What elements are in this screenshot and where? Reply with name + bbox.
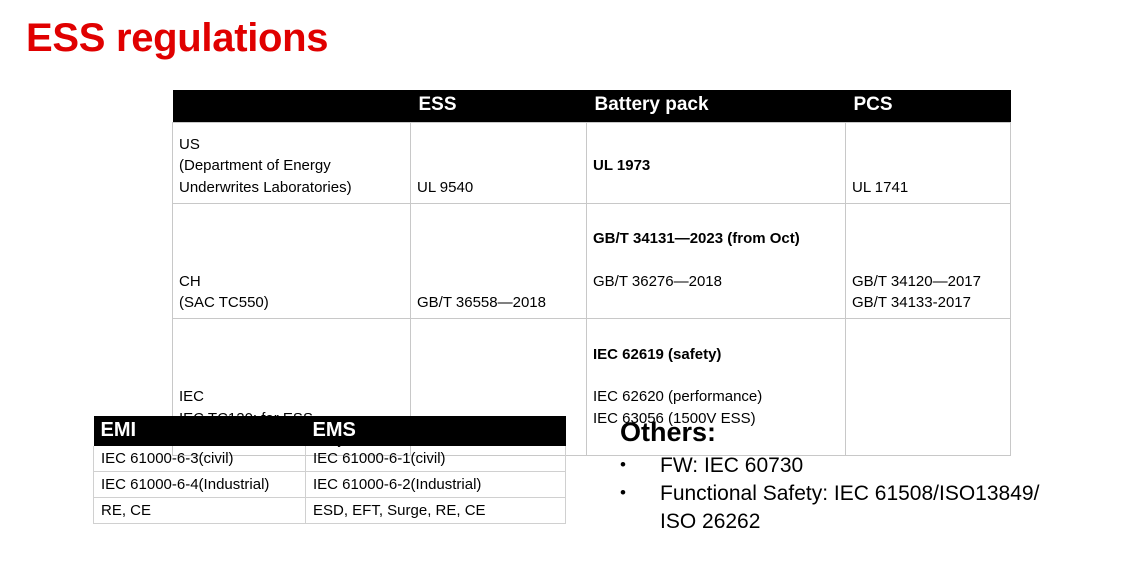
cell-battery-pack-iec-highlight: IEC 62619 (safety) — [593, 344, 841, 365]
cell-battery-pack-us: UL 1973 — [587, 123, 846, 204]
column-header-battery-pack: Battery pack — [587, 90, 846, 123]
others-section: Others: • FW: IEC 60730 • Functional Saf… — [620, 418, 1120, 536]
cell-emi-2: IEC 61000-6-4(Industrial) — [94, 472, 306, 498]
cell-emi-1: IEC 61000-6-3(civil) — [94, 446, 306, 472]
cell-battery-pack-ch-value: GB/T 36276—2018 — [593, 271, 841, 292]
cell-battery-pack-ch: GB/T 34131—2023 (from Oct) GB/T 36276—20… — [587, 204, 846, 319]
cell-ems-1: IEC 61000-6-1(civil) — [306, 446, 566, 472]
emi-header-row: EMI EMS — [94, 416, 566, 446]
column-header-pcs: PCS — [846, 90, 1011, 123]
emi-ems-table: EMI EMS IEC 61000-6-3(civil) IEC 61000-6… — [93, 416, 566, 524]
table-row: CH (SAC TC550) GB/T 36558—2018 GB/T 3413… — [173, 204, 1011, 319]
cell-region-ch: CH (SAC TC550) — [173, 204, 411, 319]
bullet-icon: • — [620, 452, 660, 478]
table-row: RE, CE ESD, EFT, Surge, RE, CE — [94, 498, 566, 524]
table-row: IEC 61000-6-3(civil) IEC 61000-6-1(civil… — [94, 446, 566, 472]
table-header-row: ESS Battery pack PCS — [173, 90, 1011, 123]
cell-battery-pack-ch-highlight: GB/T 34131—2023 (from Oct) — [593, 228, 841, 249]
others-item-text-2: Functional Safety: IEC 61508/ISO13849/ I… — [660, 480, 1120, 535]
cell-battery-pack-us-value: UL 1973 — [593, 155, 841, 176]
cell-region-us: US (Department of Energy Underwrites Lab… — [173, 123, 411, 204]
column-header-emi: EMI — [94, 416, 306, 446]
page-title: ESS regulations — [26, 16, 328, 61]
cell-ess-us: UL 9540 — [411, 123, 587, 204]
others-heading: Others: — [620, 418, 1120, 448]
cell-ems-2: IEC 61000-6-2(Industrial) — [306, 472, 566, 498]
cell-ess-ch: GB/T 36558—2018 — [411, 204, 587, 319]
column-header-ess: ESS — [411, 90, 587, 123]
cell-ems-3: ESD, EFT, Surge, RE, CE — [306, 498, 566, 524]
column-header-region — [173, 90, 411, 123]
list-item: • Functional Safety: IEC 61508/ISO13849/… — [620, 480, 1120, 535]
bullet-icon: • — [620, 480, 660, 506]
list-item: • FW: IEC 60730 — [620, 452, 1120, 480]
ess-regulations-table: ESS Battery pack PCS US (Department of E… — [172, 90, 1011, 456]
cell-pcs-ch: GB/T 34120—2017 GB/T 34133-2017 — [846, 204, 1011, 319]
column-header-ems: EMS — [306, 416, 566, 446]
cell-emi-3: RE, CE — [94, 498, 306, 524]
table-row: IEC 61000-6-4(Industrial) IEC 61000-6-2(… — [94, 472, 566, 498]
cell-pcs-us: UL 1741 — [846, 123, 1011, 204]
table-row: US (Department of Energy Underwrites Lab… — [173, 123, 1011, 204]
others-item-text-1: FW: IEC 60730 — [660, 452, 1120, 480]
